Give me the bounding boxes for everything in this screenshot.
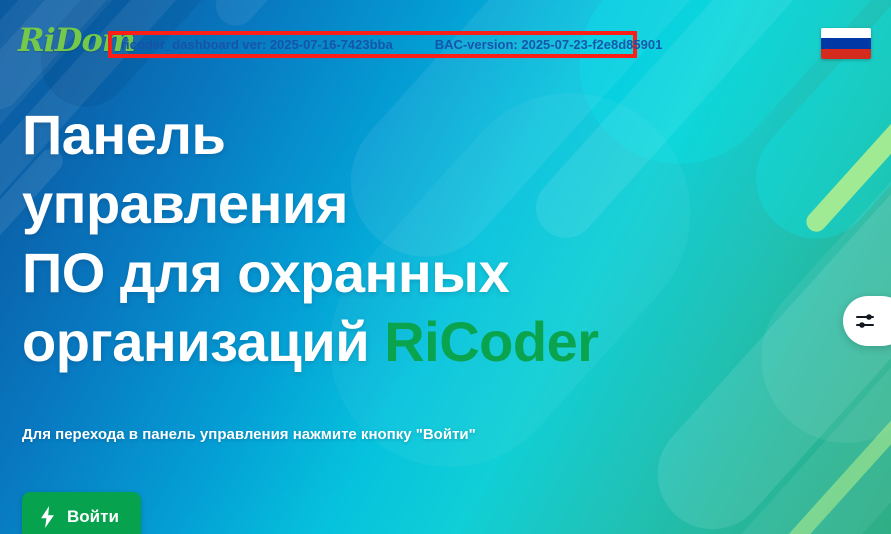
version-banner: ricoder_dashboard ver: 2025-07-16-7423bb… xyxy=(112,35,633,54)
hero-subtitle: Для перехода в панель управления нажмите… xyxy=(22,426,476,443)
settings-side-tab[interactable] xyxy=(843,296,891,346)
page-header: RiDom ricoder_dashboard ver: 2025-07-16-… xyxy=(0,0,891,86)
sliders-icon xyxy=(855,311,877,331)
dashboard-version-text: ricoder_dashboard ver: 2025-07-16-7423bb… xyxy=(121,37,393,52)
deco-stripe-lime xyxy=(744,361,891,534)
title-line-3: ПО для охранных xyxy=(22,238,722,307)
landing-page: RiDom ricoder_dashboard ver: 2025-07-16-… xyxy=(0,0,891,534)
title-line-1: Панель xyxy=(22,100,722,169)
hero-section: Панель управления ПО для охранных органи… xyxy=(22,100,722,376)
version-annotation-box: ricoder_dashboard ver: 2025-07-16-7423bb… xyxy=(108,31,637,58)
page-title: Панель управления ПО для охранных органи… xyxy=(22,100,722,376)
title-line-4-prefix: организаций xyxy=(22,310,384,373)
flag-stripe-white xyxy=(821,28,871,38)
ricoder-brand-name: RiCoder xyxy=(384,310,598,373)
title-line-2: управления xyxy=(22,169,722,238)
login-button-label: Войти xyxy=(67,507,119,527)
flag-stripe-blue xyxy=(821,38,871,48)
bac-version-text: BAC-version: 2025-07-23-f2e8d85901 xyxy=(435,37,663,52)
title-line-4: организаций RiCoder xyxy=(22,307,722,376)
deco-stripe xyxy=(726,52,891,478)
lightning-bolt-icon xyxy=(40,506,55,528)
deco-stripe xyxy=(693,202,891,534)
flag-stripe-red xyxy=(821,49,871,59)
russia-flag-icon[interactable] xyxy=(821,28,871,59)
login-button[interactable]: Войти xyxy=(22,492,141,534)
